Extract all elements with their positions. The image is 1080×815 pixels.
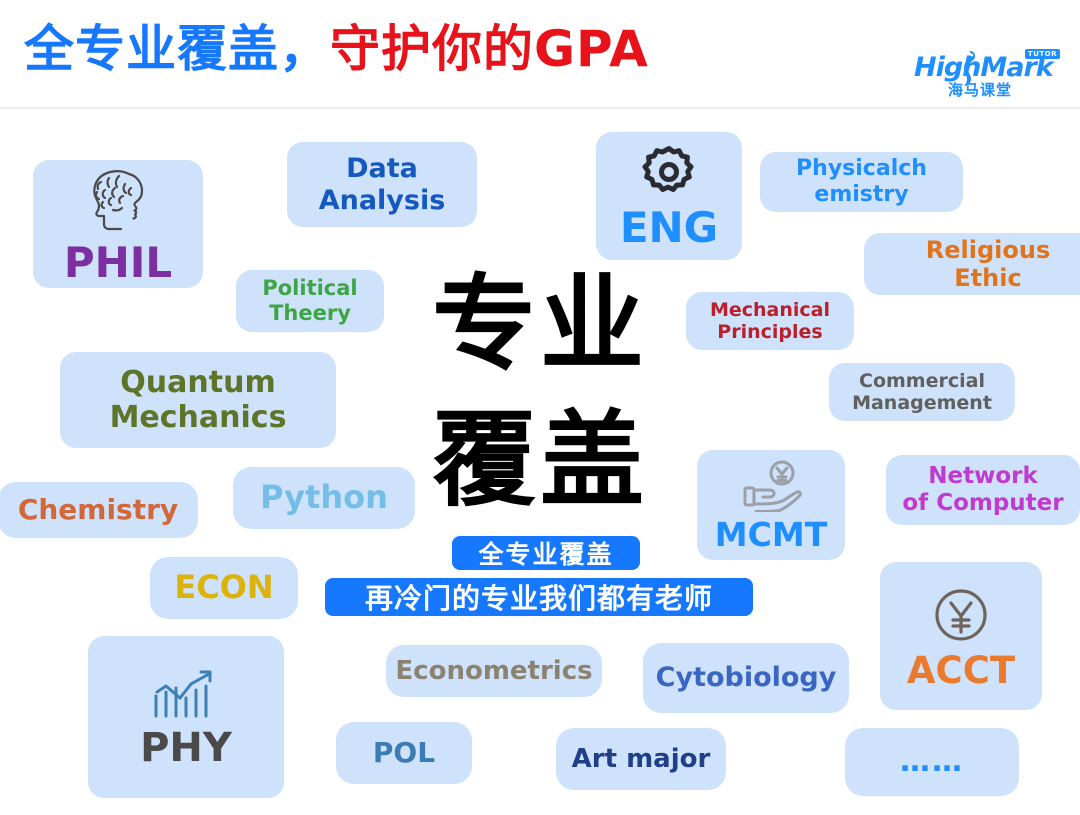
subject-tag-label: Political Theery (262, 276, 357, 326)
subject-tag-pol[interactable]: POL (336, 722, 472, 784)
subject-tag-religious-ethic[interactable]: Religious Ethic (864, 233, 1080, 295)
subject-tag-label: Quantum Mechanics (110, 365, 287, 436)
hand-yen-icon (740, 460, 802, 512)
subject-tag-cytobiology[interactable]: Cytobiology (643, 643, 849, 713)
headline-line-1: 专业 (432, 272, 648, 376)
subject-tag-label: Cytobiology (656, 662, 837, 694)
subject-tile-phy[interactable]: PHY (88, 636, 284, 798)
logo-tutor-badge: TUTOR (1025, 49, 1060, 59)
subject-tile-eng[interactable]: ENG (596, 132, 742, 260)
bar-chart-up-icon (151, 666, 221, 722)
subject-tag-commercial-management[interactable]: Commercial Management (829, 363, 1015, 421)
subject-tile-phil[interactable]: PHIL (33, 160, 203, 288)
subject-tag-label: Network of Computer (902, 463, 1063, 517)
subject-tag-label: POL (373, 736, 435, 769)
subject-tag-chemistry[interactable]: Chemistry (0, 482, 198, 538)
subject-tag-econ[interactable]: ECON (150, 557, 298, 619)
page-title-red: 守护你的GPA (330, 20, 649, 78)
subject-tag-political-theery[interactable]: Political Theery (236, 270, 384, 332)
header: 全专业覆盖，守护你的GPA HighMark TUTOR 海马课堂 (0, 0, 1080, 108)
subject-tile-mcmt[interactable]: MCMT (697, 450, 845, 560)
subject-tag-label: Econometrics (395, 656, 592, 687)
subject-tag-econometrics[interactable]: Econometrics (386, 645, 602, 697)
subject-tile-label: PHIL (64, 242, 172, 284)
poster-canvas: 全专业覆盖，守护你的GPA HighMark TUTOR 海马课堂 Data A… (0, 0, 1080, 815)
subject-tile-label: ACCT (907, 652, 1015, 689)
subject-tag-label: Mechanical Principles (710, 299, 830, 344)
subject-tag-mechanical-principles[interactable]: Mechanical Principles (686, 292, 854, 350)
subject-tag-label: ECON (174, 569, 273, 607)
page-title: 全专业覆盖，守护你的GPA (24, 17, 649, 81)
subject-tag-label: Art major (572, 744, 711, 775)
brain-head-icon (79, 164, 157, 236)
gear-icon (640, 143, 698, 201)
subject-tag-quantum-mechanics[interactable]: Quantum Mechanics (60, 352, 336, 448)
banner-subtitle: 再冷门的专业我们都有老师 (325, 578, 753, 616)
banner-coverage: 全专业覆盖 (452, 536, 640, 570)
subject-tag-label: Religious Ethic (926, 236, 1050, 293)
subject-tile-label: ENG (620, 207, 718, 249)
yen-circle-icon (930, 584, 992, 646)
headline-line-2: 覆盖 (432, 408, 648, 512)
subject-tag-label: Python (260, 479, 388, 517)
logo-chinese: 海马课堂 (948, 79, 1012, 100)
subject-tag-python[interactable]: Python (233, 467, 415, 529)
subject-tile-label: PHY (140, 728, 232, 768)
subject-tag-label: Data Analysis (319, 153, 446, 217)
brand-logo[interactable]: HighMark TUTOR 海马课堂 (906, 50, 1066, 106)
subject-tag-label: Chemistry (18, 493, 178, 526)
subject-tile-label: MCMT (715, 518, 827, 551)
subject-tag-network-of-computer[interactable]: Network of Computer (886, 455, 1080, 525)
header-divider (0, 107, 1080, 109)
subject-tile-acct[interactable]: ACCT (880, 562, 1042, 710)
subject-tag-physicalch-emistry[interactable]: Physicalch emistry (760, 152, 963, 212)
subject-tag-data-analysis[interactable]: Data Analysis (287, 142, 477, 227)
page-title-blue: 全专业覆盖， (24, 20, 330, 78)
subject-tag-label: …… (900, 744, 964, 779)
subject-tag-label: Commercial Management (852, 370, 992, 415)
subject-tag-label: Physicalch emistry (796, 156, 927, 208)
subject-tag-ellipsis[interactable]: …… (845, 728, 1019, 796)
subject-tag-art-major[interactable]: Art major (556, 728, 726, 790)
